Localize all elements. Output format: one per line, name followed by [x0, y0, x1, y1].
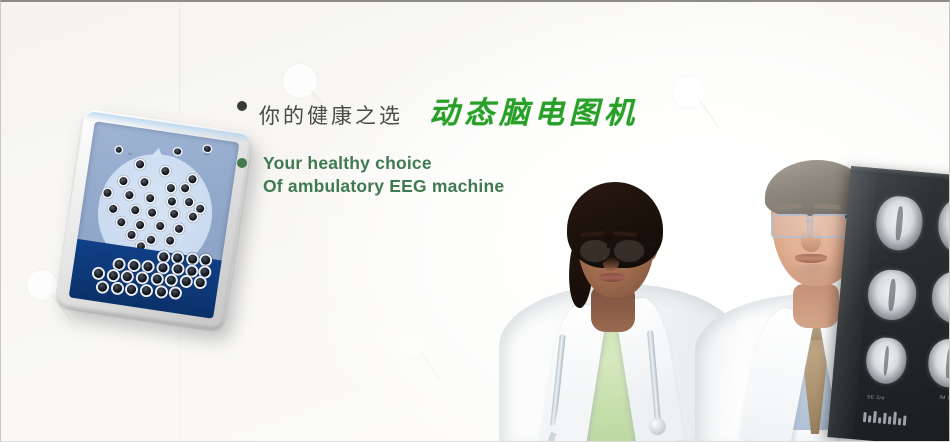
stethoscope-chestpiece [649, 418, 666, 435]
lips [599, 273, 625, 282]
glasses-lens-left [578, 238, 612, 264]
glasses-bridge [607, 245, 614, 248]
chin-shadow [787, 264, 839, 288]
glasses-lens-right [811, 214, 849, 238]
lips [795, 254, 827, 263]
eeg-product-banner: A1 REF [0, 0, 950, 442]
doctors-photo: SE 3/4 IM 12 [1, 2, 949, 441]
glasses-bridge [805, 220, 813, 222]
neck [793, 284, 839, 328]
glasses-lens-left [771, 214, 809, 238]
